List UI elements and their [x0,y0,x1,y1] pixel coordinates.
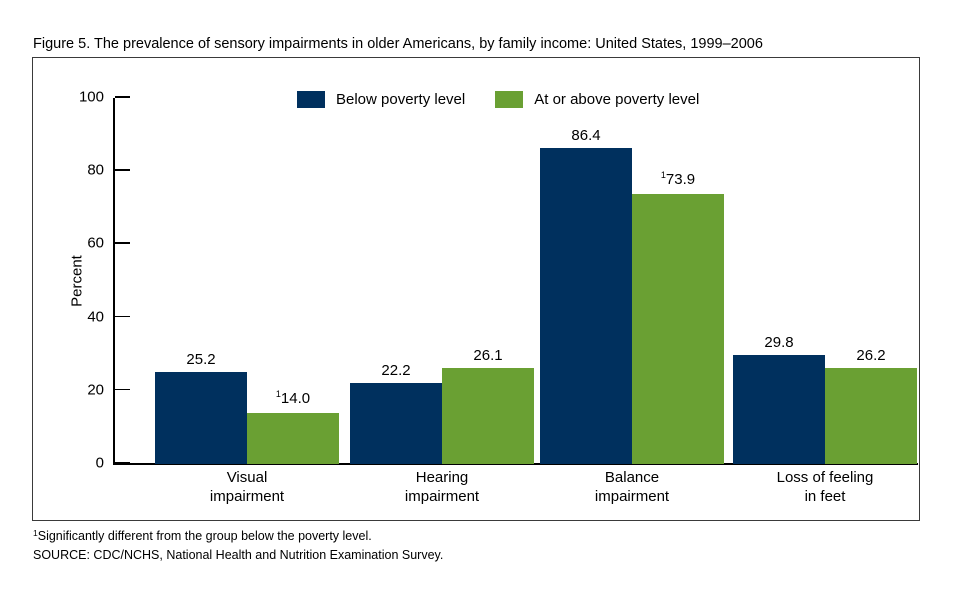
bar[interactable]: 173.9 [632,194,724,464]
bar-group: 29.826.2 [733,98,917,464]
bar-value-label: 29.8 [764,334,793,351]
y-tick-label: 40 [87,308,104,325]
bar[interactable]: 86.4 [540,148,632,464]
bar[interactable]: 25.2 [155,372,247,464]
footnote-significance: 1Significantly different from the group … [33,527,923,546]
footnote-significance-text: Significantly different from the group b… [38,529,372,543]
chart-frame: Below poverty levelAt or above poverty l… [32,57,920,521]
x-axis-category-labels: VisualimpairmentHearingimpairmentBalance… [115,468,918,518]
bar-value-label: 25.2 [186,351,215,368]
bar-value-label: 22.2 [381,362,410,379]
bar[interactable]: 26.2 [825,368,917,464]
x-axis-category-label-line: in feet [725,487,925,506]
bar-value-footnote-marker: 1 [276,389,281,399]
bar[interactable]: 29.8 [733,355,825,464]
x-axis-category-label-line: Visual [147,468,347,487]
bars-container: 25.2114.022.226.186.4173.929.826.2 [115,98,918,464]
x-axis-category-label-line: impairment [342,487,542,506]
x-axis-category-label-line: impairment [532,487,732,506]
x-axis-category-label-line: Balance [532,468,732,487]
y-axis-title: Percent [68,255,85,307]
bar-value-label: 26.1 [473,347,502,364]
bar-group: 22.226.1 [350,98,534,464]
bar-value-label: 173.9 [661,171,695,190]
x-axis-category-label: Loss of feelingin feet [725,468,925,506]
footnotes: 1Significantly different from the group … [33,527,923,564]
y-tick-label: 0 [96,455,104,472]
bar[interactable]: 26.1 [442,368,534,464]
x-axis-category-label: Visualimpairment [147,468,347,506]
bar[interactable]: 114.0 [247,413,339,464]
bar-group: 86.4173.9 [540,98,724,464]
y-tick-label: 60 [87,235,104,252]
footnote-marker: 1 [33,528,38,538]
y-tick-label: 20 [87,381,104,398]
x-axis-category-label-line: impairment [147,487,347,506]
figure-title: Figure 5. The prevalence of sensory impa… [33,36,933,53]
bar-value-footnote-marker: 1 [661,170,666,180]
bar[interactable]: 22.2 [350,383,442,464]
x-axis-category-label-line: Hearing [342,468,542,487]
x-axis-category-label: Hearingimpairment [342,468,542,506]
figure-container: Figure 5. The prevalence of sensory impa… [0,0,960,614]
bar-value-label: 26.2 [856,347,885,364]
y-tick-label: 100 [79,89,104,106]
plot-area: Percent 020406080100 25.2114.022.226.186… [113,98,918,463]
footnote-source: SOURCE: CDC/NCHS, National Health and Nu… [33,546,923,564]
x-axis-category-label-line: Loss of feeling [725,468,925,487]
x-axis-category-label: Balanceimpairment [532,468,732,506]
bar-value-label: 114.0 [276,390,310,409]
y-tick-label: 80 [87,162,104,179]
bar-group: 25.2114.0 [155,98,339,464]
bar-value-label: 86.4 [571,127,600,144]
